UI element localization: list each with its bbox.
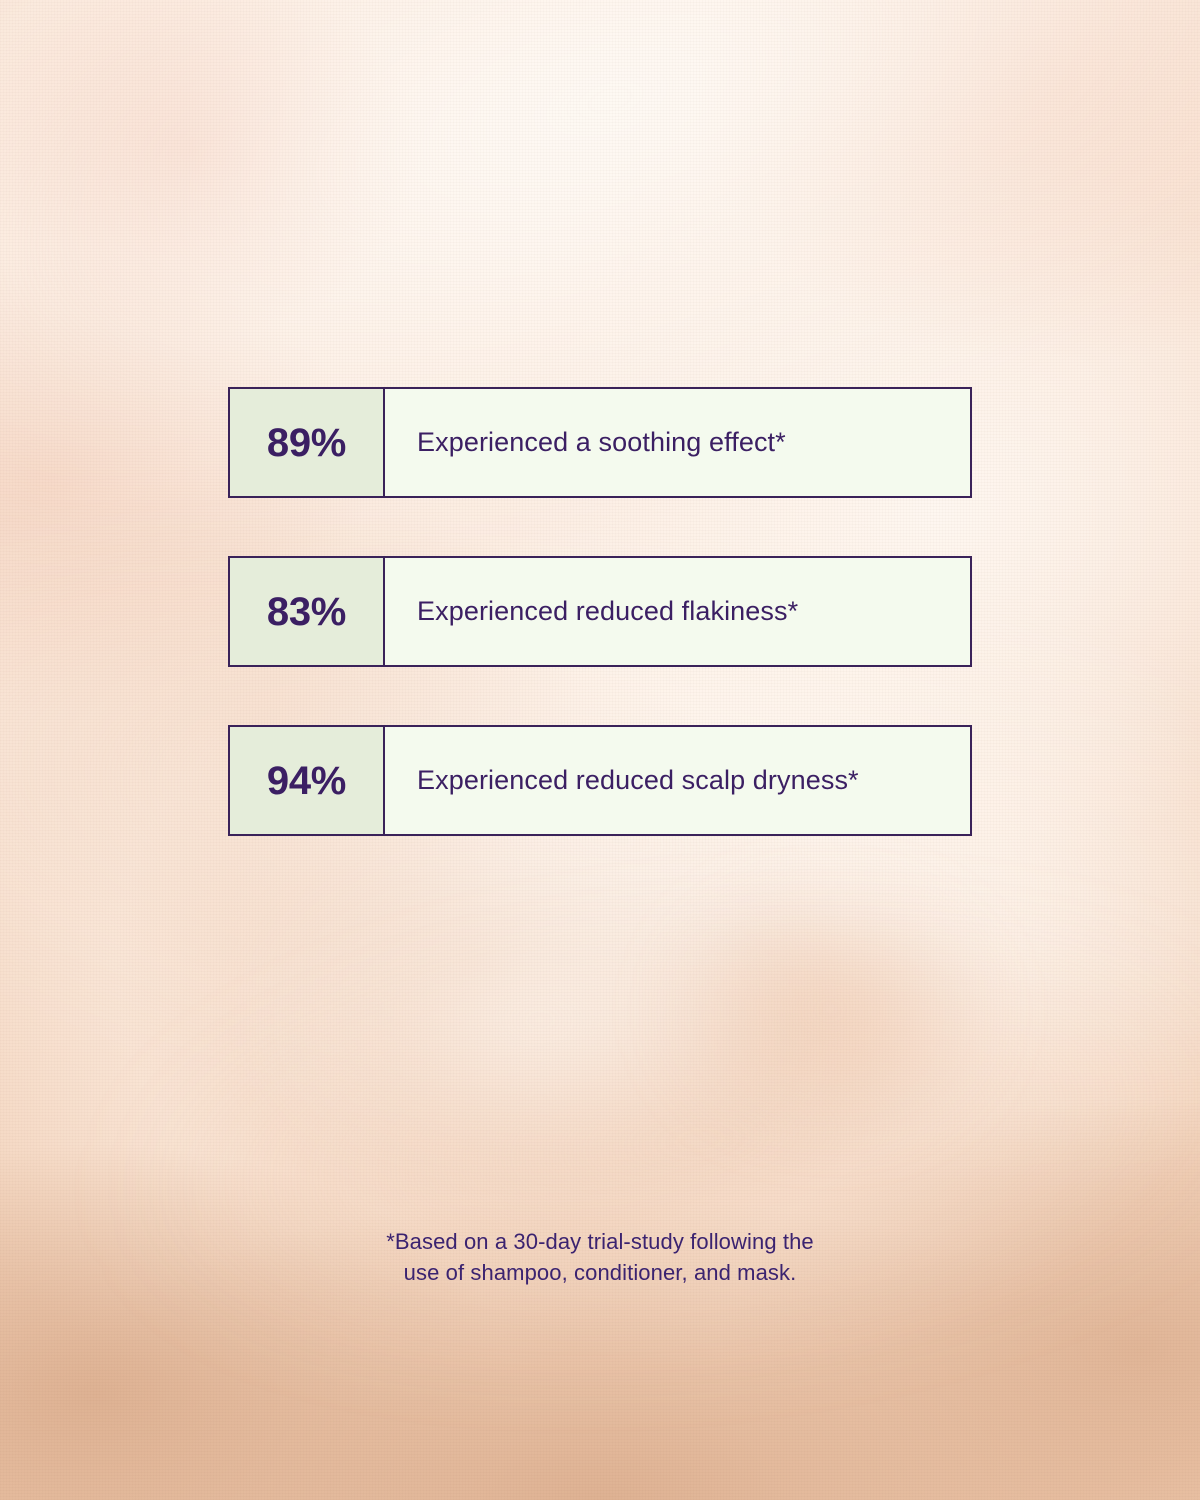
stat-value: 89% — [267, 423, 346, 463]
stat-label-cell: Experienced a soothing effect* — [385, 389, 970, 496]
stat-value-cell: 83% — [230, 558, 385, 665]
stat-row: 83% Experienced reduced flakiness* — [228, 556, 972, 667]
footnote-line-2: use of shampoo, conditioner, and mask. — [0, 1257, 1200, 1288]
stat-value: 94% — [267, 761, 346, 801]
stat-value: 83% — [267, 592, 346, 632]
stat-value-cell: 94% — [230, 727, 385, 834]
stat-label-cell: Experienced reduced flakiness* — [385, 558, 970, 665]
stat-label: Experienced reduced flakiness* — [417, 595, 798, 627]
footnote: *Based on a 30-day trial-study following… — [0, 1226, 1200, 1288]
stat-value-cell: 89% — [230, 389, 385, 496]
stat-label: Experienced a soothing effect* — [417, 426, 786, 458]
stat-poster: 89% Experienced a soothing effect* 83% E… — [0, 0, 1200, 1500]
stat-row: 89% Experienced a soothing effect* — [228, 387, 972, 498]
stat-row: 94% Experienced reduced scalp dryness* — [228, 725, 972, 836]
footnote-line-1: *Based on a 30-day trial-study following… — [0, 1226, 1200, 1257]
stat-list: 89% Experienced a soothing effect* 83% E… — [228, 387, 972, 836]
stat-label: Experienced reduced scalp dryness* — [417, 764, 859, 796]
stat-label-cell: Experienced reduced scalp dryness* — [385, 727, 970, 834]
